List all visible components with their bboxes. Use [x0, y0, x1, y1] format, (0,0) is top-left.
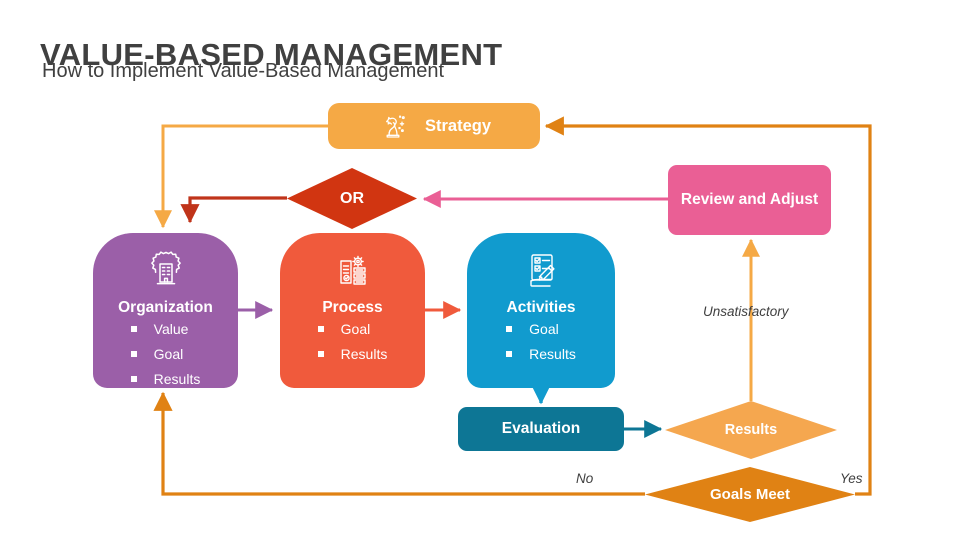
bullet-label: Results	[154, 372, 201, 386]
bullet-square-icon	[131, 376, 137, 382]
node-activities-label: Activities	[507, 299, 576, 317]
process-bullet-list: Goal Results	[318, 322, 388, 372]
node-goals-meet-label: Goals Meet	[710, 486, 790, 503]
node-review-label: Review and Adjust	[681, 190, 818, 209]
node-goals-meet-decision[interactable]: Goals Meet	[645, 467, 855, 522]
node-or-label: OR	[340, 190, 364, 208]
bullet-square-icon	[506, 326, 512, 332]
list-item: Results	[506, 347, 576, 361]
bullet-square-icon	[318, 351, 324, 357]
bullet-label: Results	[529, 347, 576, 361]
edge-label-no: No	[576, 471, 593, 486]
node-process-label: Process	[322, 299, 382, 317]
list-item: Goal	[131, 347, 201, 361]
bullet-square-icon	[318, 326, 324, 332]
list-item: Value	[131, 322, 201, 336]
bullet-square-icon	[131, 326, 137, 332]
bullet-label: Goal	[341, 322, 371, 336]
edge-label-unsatisfactory: Unsatisfactory	[703, 304, 789, 319]
node-strategy[interactable]: Strategy	[328, 103, 540, 149]
list-item: Results	[318, 347, 388, 361]
node-activities[interactable]: Activities Goal Results	[467, 233, 615, 388]
list-item: Goal	[506, 322, 576, 336]
flowchart-diagram: Strategy OR Review and Adjust Organizati…	[0, 0, 960, 540]
edge-label-yes: Yes	[840, 471, 863, 486]
organization-bullet-list: Value Goal Results	[131, 322, 201, 397]
node-results-label: Results	[725, 422, 777, 438]
list-item: Goal	[318, 322, 388, 336]
node-process[interactable]: Process Goal Results	[280, 233, 425, 388]
checklist-pen-icon	[517, 247, 565, 295]
node-organization-label: Organization	[118, 299, 213, 317]
bullet-label: Goal	[154, 347, 184, 361]
bullet-label: Results	[341, 347, 388, 361]
bullet-label: Value	[154, 322, 189, 336]
edge-or-to-organization	[190, 198, 287, 222]
bullet-square-icon	[131, 351, 137, 357]
node-evaluation[interactable]: Evaluation	[458, 407, 624, 451]
bullet-label: Goal	[529, 322, 559, 336]
node-or[interactable]: OR	[287, 168, 417, 229]
node-organization[interactable]: Organization Value Goal Results	[93, 233, 238, 388]
document-gear-icon	[329, 247, 377, 295]
chess-knight-strategy-icon	[377, 109, 411, 143]
node-evaluation-label: Evaluation	[502, 420, 580, 438]
list-item: Results	[131, 372, 201, 386]
node-results-decision[interactable]: Results	[665, 401, 837, 459]
node-review-and-adjust[interactable]: Review and Adjust	[668, 165, 831, 235]
bullet-square-icon	[506, 351, 512, 357]
activities-bullet-list: Goal Results	[506, 322, 576, 372]
node-strategy-label: Strategy	[425, 117, 491, 136]
building-gear-icon	[142, 247, 190, 295]
